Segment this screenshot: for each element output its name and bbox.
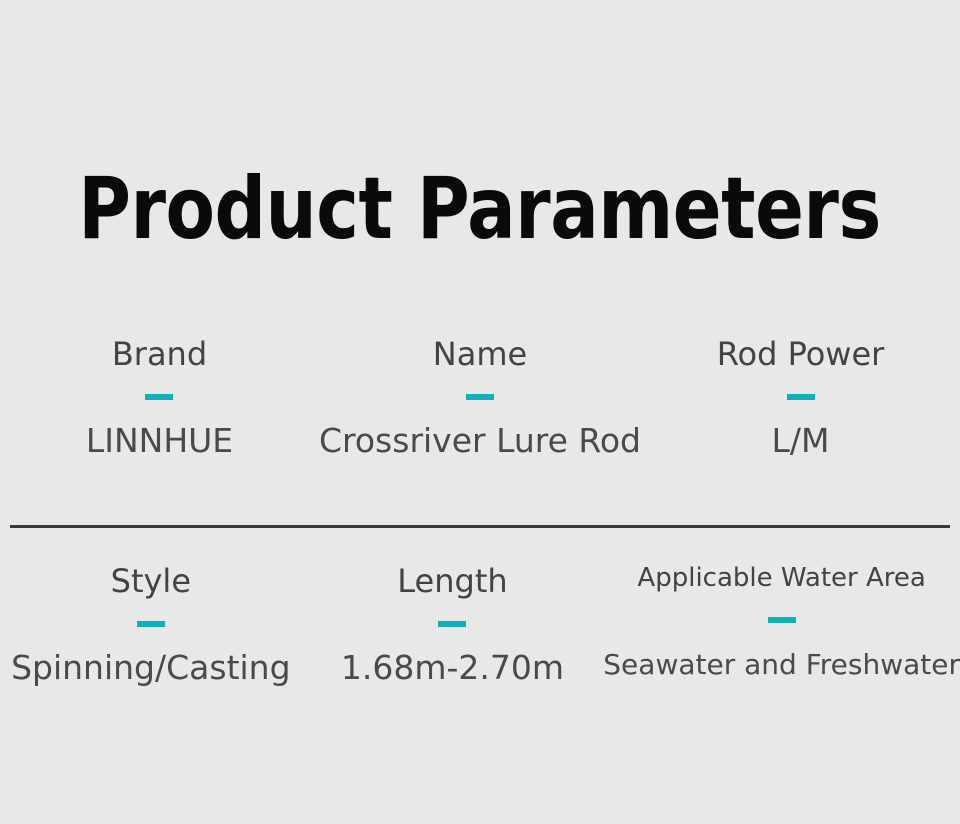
- section-divider: [10, 525, 950, 528]
- spec-label-length: Length: [397, 561, 507, 601]
- accent-dash-icon: [787, 394, 815, 400]
- accent-dash-icon: [137, 621, 165, 627]
- product-parameters-page: Product Parameters Brand LINNHUE Name Cr…: [0, 0, 960, 824]
- spec-group-secondary: Style Spinning/Casting Length 1.68m-2.70…: [0, 561, 960, 689]
- spec-value-rod-power: L/M: [772, 420, 830, 462]
- page-title: Product Parameters: [79, 166, 882, 252]
- spec-value-brand: LINNHUE: [86, 420, 233, 462]
- spec-column-length: Length 1.68m-2.70m: [302, 561, 604, 689]
- spec-label-rod-power: Rod Power: [717, 334, 885, 374]
- page-title-container: Product Parameters: [0, 108, 960, 309]
- accent-dash-icon: [438, 621, 466, 627]
- spec-value-style: Spinning/Casting: [11, 647, 290, 689]
- spec-label-applicable-water-area: Applicable Water Area: [637, 561, 925, 595]
- spec-group-primary: Brand LINNHUE Name Crossriver Lure Rod R…: [0, 334, 960, 462]
- spec-value-name: Crossriver Lure Rod: [319, 420, 641, 462]
- accent-dash-icon: [145, 394, 173, 400]
- spec-value-length: 1.68m-2.70m: [341, 647, 564, 689]
- accent-dash-icon: [466, 394, 494, 400]
- accent-dash-icon: [768, 617, 796, 623]
- spec-column-brand: Brand LINNHUE: [0, 334, 319, 462]
- spec-column-style: Style Spinning/Casting: [0, 561, 302, 689]
- spec-label-style: Style: [111, 561, 191, 601]
- spec-label-name: Name: [433, 334, 527, 374]
- spec-label-brand: Brand: [112, 334, 207, 374]
- spec-column-rod-power: Rod Power L/M: [641, 334, 960, 462]
- spec-column-applicable-water-area: Applicable Water Area Seawater and Fresh…: [603, 561, 960, 689]
- spec-value-applicable-water-area: Seawater and Freshwater: [603, 647, 960, 683]
- spec-column-name: Name Crossriver Lure Rod: [319, 334, 641, 462]
